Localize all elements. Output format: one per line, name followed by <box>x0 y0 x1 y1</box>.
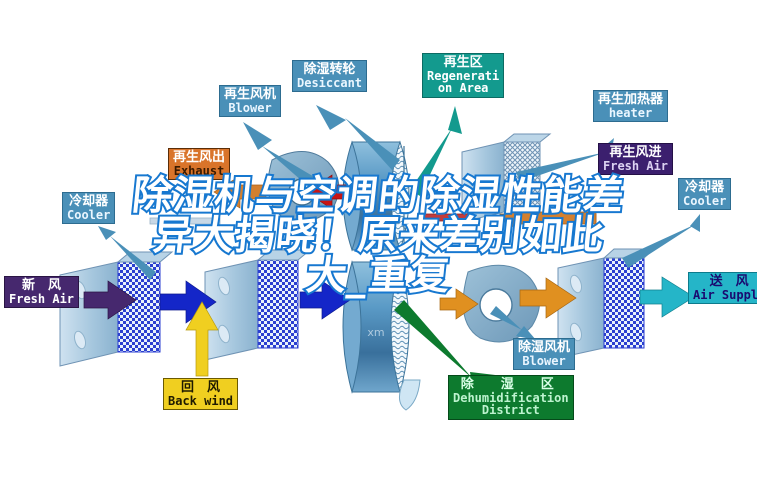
label-dehumidification-blower[interactable]: 除湿风机 Blower <box>513 338 575 370</box>
label-back-wind-cn: 回 风 <box>168 381 233 395</box>
label-regeneration-fresh-air-in-cn: 再生风进 <box>603 146 668 160</box>
diagram-canvas: xm <box>0 0 757 488</box>
condensate-drip <box>399 380 420 410</box>
label-regeneration-blower-cn: 再生风机 <box>224 88 276 102</box>
svg-text:xm: xm <box>367 326 384 339</box>
desiccant-rotor-lower: xm <box>343 262 409 392</box>
label-desiccant-wheel[interactable]: 除湿转轮 Desiccant <box>292 60 367 92</box>
label-regeneration-exhaust[interactable]: 再生风出 Exhaust <box>168 148 230 180</box>
label-cooler-right-cn: 冷却器 <box>683 181 726 195</box>
label-dehumidification-district-cn: 除 湿 区 <box>453 378 569 392</box>
label-fresh-air-in-en: Fresh Air <box>9 293 74 306</box>
label-regeneration-heater-en: heater <box>598 107 663 120</box>
label-fresh-air-in[interactable]: 新 风 Fresh Air <box>4 276 79 308</box>
hot-duct-bar <box>420 214 472 221</box>
air-supply-arrow <box>640 277 694 317</box>
label-regeneration-area-en2: on Area <box>427 82 499 95</box>
label-cooler-left-cn: 冷却器 <box>67 195 110 209</box>
label-air-supply-cn: 送 风 <box>693 275 757 289</box>
regen-inlet-arrow <box>500 205 596 231</box>
label-cooler-left-en: Cooler <box>67 209 110 222</box>
leader-cooler-right-2 <box>622 224 696 268</box>
label-cooler-right[interactable]: 冷却器 Cooler <box>678 178 731 210</box>
label-regeneration-fresh-air-in[interactable]: 再生风进 Fresh Air <box>598 143 673 175</box>
label-regeneration-area-cn: 再生区 <box>427 56 499 70</box>
exhaust-duct-bar <box>150 218 220 224</box>
label-regeneration-exhaust-en: Exhaust <box>173 165 225 178</box>
label-regeneration-blower-en: Blower <box>224 102 276 115</box>
label-air-supply-en: Air Supply <box>693 289 757 302</box>
leader-cooler-left <box>98 226 116 240</box>
cooler-coil-mid <box>205 250 310 360</box>
label-air-supply[interactable]: 送 风 Air Supply <box>688 272 757 304</box>
label-regeneration-fresh-air-in-en: Fresh Air <box>603 160 668 173</box>
label-dehumidification-blower-cn: 除湿风机 <box>518 341 570 355</box>
leader-regen-area-2 <box>410 128 452 196</box>
label-desiccant-wheel-en: Desiccant <box>297 77 362 90</box>
leader-regen-blower <box>243 122 272 150</box>
label-back-wind-en: Back wind <box>168 395 233 408</box>
desiccant-rotor-upper <box>343 142 409 250</box>
label-regeneration-heater-cn: 再生加热器 <box>598 93 663 107</box>
label-cooler-right-en: Cooler <box>683 195 726 208</box>
label-desiccant-wheel-cn: 除湿转轮 <box>297 63 362 77</box>
exhaust-arrow <box>214 176 266 208</box>
leader-lines: xm <box>0 0 757 488</box>
label-back-wind[interactable]: 回 风 Back wind <box>163 378 238 410</box>
label-regeneration-blower[interactable]: 再生风机 Blower <box>219 85 281 117</box>
label-dehumidification-blower-en: Blower <box>518 355 570 368</box>
label-regeneration-area[interactable]: 再生区 Regenerati on Area <box>422 53 504 98</box>
heater-block <box>462 134 550 222</box>
label-dehumidification-district-en2: District <box>453 404 569 417</box>
leader-cooler-right <box>690 214 700 232</box>
label-dehumidification-district[interactable]: 除 湿 区 Dehumidification District <box>448 375 574 420</box>
label-fresh-air-in-cn: 新 风 <box>9 279 74 293</box>
leader-regen-area <box>448 106 462 134</box>
leader-desiccant <box>316 105 346 130</box>
label-regeneration-heater[interactable]: 再生加热器 heater <box>593 90 668 122</box>
label-cooler-left[interactable]: 冷却器 Cooler <box>62 192 115 224</box>
label-regeneration-exhaust-cn: 再生风出 <box>173 151 225 165</box>
process-arrow-2 <box>300 281 350 319</box>
